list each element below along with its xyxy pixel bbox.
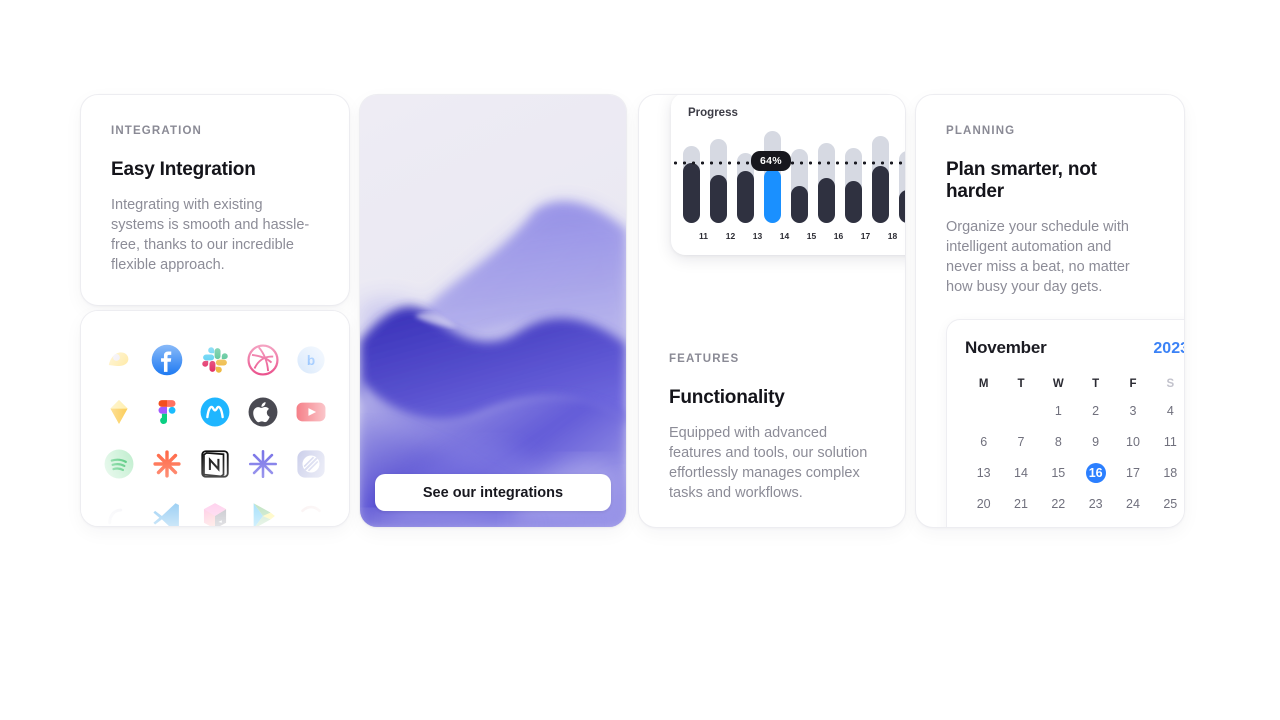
calendar-day[interactable]: 27 (965, 525, 1002, 528)
blank-icon (292, 497, 330, 527)
calendar-day[interactable]: 23 (1077, 494, 1114, 514)
x-label-15: 15 (803, 231, 820, 241)
calendar-day[interactable]: 11 (1152, 432, 1185, 452)
facebook-icon (148, 341, 186, 379)
calendar-day-empty: · (1002, 401, 1039, 421)
calendar-year[interactable]: 2023 (1153, 340, 1185, 358)
bar-fill (845, 181, 862, 223)
planning-card-content: PLANNING Plan smarter, not harder Organi… (916, 95, 1184, 297)
calendar-day[interactable]: 18 (1152, 463, 1185, 483)
abstract-indigo-wave-artwork: See our integrations (360, 95, 626, 527)
figma-icon (148, 393, 186, 431)
x-label-12: 12 (722, 231, 739, 241)
marvel-icon (196, 393, 234, 431)
integration-title: Easy Integration (111, 159, 319, 181)
progress-bar-11[interactable] (683, 131, 700, 223)
wave-graphic (360, 95, 626, 527)
calendar-day[interactable]: 14 (1002, 463, 1039, 483)
calendar-day[interactable]: 1 (1040, 401, 1077, 421)
youtube-icon (292, 393, 330, 431)
progress-bar-17[interactable] (845, 131, 862, 223)
apple-icon (244, 393, 282, 431)
calendar-day[interactable]: 6 (965, 432, 1002, 452)
calendar-day[interactable]: 15 (1040, 463, 1077, 483)
planning-eyebrow: PLANNING (946, 125, 1154, 137)
slack-icon (196, 341, 234, 379)
logo-grid: b (81, 311, 349, 527)
calendar-grid: MTWTFS··12346789101113141516171820212223… (965, 378, 1185, 528)
progress-bar-12[interactable] (710, 131, 727, 223)
calendar-day[interactable]: 25 (1152, 494, 1185, 514)
x-label-18: 18 (884, 231, 901, 241)
calendar-day[interactable]: 13 (965, 463, 1002, 483)
bar-fill (710, 175, 727, 224)
arc-icon (292, 445, 330, 483)
calendar-weekday-4: F (1114, 378, 1151, 390)
calendar-day[interactable]: 4 (1152, 401, 1185, 421)
progress-tooltip: 64% (751, 151, 791, 171)
progress-chart: 64% 111213141516171819 (671, 131, 906, 253)
calendar-day-empty: · (1152, 525, 1185, 528)
progress-bars (683, 131, 906, 223)
page-canvas: INTEGRATION Easy Integration Integrating… (0, 0, 1280, 720)
svg-text:b: b (307, 353, 315, 368)
bar-fill (899, 190, 906, 223)
calendar-header: November 2023 (965, 338, 1185, 358)
behance-icon: b (292, 341, 330, 379)
spotify-icon (100, 445, 138, 483)
planning-title: Plan smarter, not harder (946, 159, 1154, 203)
calendar-day[interactable]: 30 (1077, 525, 1114, 528)
x-label-13: 13 (749, 231, 766, 241)
x-label-17: 17 (857, 231, 874, 241)
bar-fill (872, 166, 889, 223)
x-label-11: 11 (695, 231, 712, 241)
dribbble-icon (244, 341, 282, 379)
see-our-integrations-button[interactable]: See our integrations (375, 474, 611, 511)
notion-icon (196, 445, 234, 483)
google-play-icon (244, 497, 282, 527)
asterisk-icon (244, 445, 282, 483)
vscode-icon (148, 497, 186, 527)
bar-fill (737, 171, 754, 223)
calendar-day[interactable]: 17 (1114, 463, 1151, 483)
x-label-16: 16 (830, 231, 847, 241)
sketch-icon (100, 393, 138, 431)
x-label-14: 14 (776, 231, 793, 241)
bar-fill (818, 178, 835, 223)
calendar-day[interactable]: 28 (1002, 525, 1039, 528)
integrations-logo-card: b (80, 310, 350, 527)
artwork-card: See our integrations (359, 94, 627, 528)
calendar-day-empty: · (1114, 525, 1151, 528)
calendar-weekday-5: S (1152, 378, 1185, 390)
zapier-icon (148, 445, 186, 483)
swirl-icon (100, 497, 138, 527)
calendar-day-selected[interactable]: 16 (1086, 463, 1106, 483)
bar-fill (683, 163, 700, 223)
calendar-day[interactable]: 8 (1040, 432, 1077, 452)
progress-bar-15[interactable] (791, 131, 808, 223)
calendar-day[interactable]: 21 (1002, 494, 1039, 514)
integration-card-content: INTEGRATION Easy Integration Integrating… (81, 95, 349, 275)
progress-bar-18[interactable] (872, 131, 889, 223)
framer-cube-icon (196, 497, 234, 527)
bar-fill (791, 186, 808, 223)
calendar-day[interactable]: 9 (1077, 432, 1114, 452)
calendar-weekday-3: T (1077, 378, 1114, 390)
planning-card: PLANNING Plan smarter, not harder Organi… (915, 94, 1185, 528)
features-card-content: FEATURES Functionality Equipped with adv… (669, 353, 879, 503)
calendar-day[interactable]: 20 (965, 494, 1002, 514)
calendar-day[interactable]: 24 (1114, 494, 1151, 514)
calendar-month: November (965, 338, 1047, 358)
calendar-widget[interactable]: November 2023 MTWTFS··123467891011131415… (946, 319, 1185, 528)
progress-bar-16[interactable] (818, 131, 835, 223)
integration-body: Integrating with existing systems is smo… (111, 195, 311, 275)
planning-body: Organize your schedule with intelligent … (946, 217, 1146, 297)
calendar-day-empty: · (965, 401, 1002, 421)
calendar-day[interactable]: 22 (1040, 494, 1077, 514)
integration-card: INTEGRATION Easy Integration Integrating… (80, 94, 350, 306)
calendar-day[interactable]: 7 (1002, 432, 1039, 452)
calendar-weekday-0: M (965, 378, 1002, 390)
progress-x-axis-labels: 111213141516171819 (683, 231, 906, 241)
calendar-day[interactable]: 2 (1077, 401, 1114, 421)
progress-bar-19[interactable] (899, 131, 906, 223)
calendar-day[interactable]: 29 (1040, 525, 1077, 528)
calendar-weekday-1: T (1002, 378, 1039, 390)
calendar-day[interactable]: 10 (1114, 432, 1151, 452)
progress-bar-14[interactable] (764, 131, 781, 223)
features-body: Equipped with advanced features and tool… (669, 423, 879, 503)
progress-bar-13[interactable] (737, 131, 754, 223)
progress-widget: Progress 64% 111213141516171819 (671, 94, 906, 255)
mailchimp-icon (100, 341, 138, 379)
features-title: Functionality (669, 387, 879, 409)
calendar-day[interactable]: 3 (1114, 401, 1151, 421)
progress-label: Progress (688, 107, 906, 119)
features-card: Progress 64% 111213141516171819 FEATURES… (638, 94, 906, 528)
calendar-weekday-2: W (1040, 378, 1077, 390)
integration-eyebrow: INTEGRATION (111, 125, 319, 137)
bar-fill (764, 169, 781, 223)
features-eyebrow: FEATURES (669, 353, 879, 365)
